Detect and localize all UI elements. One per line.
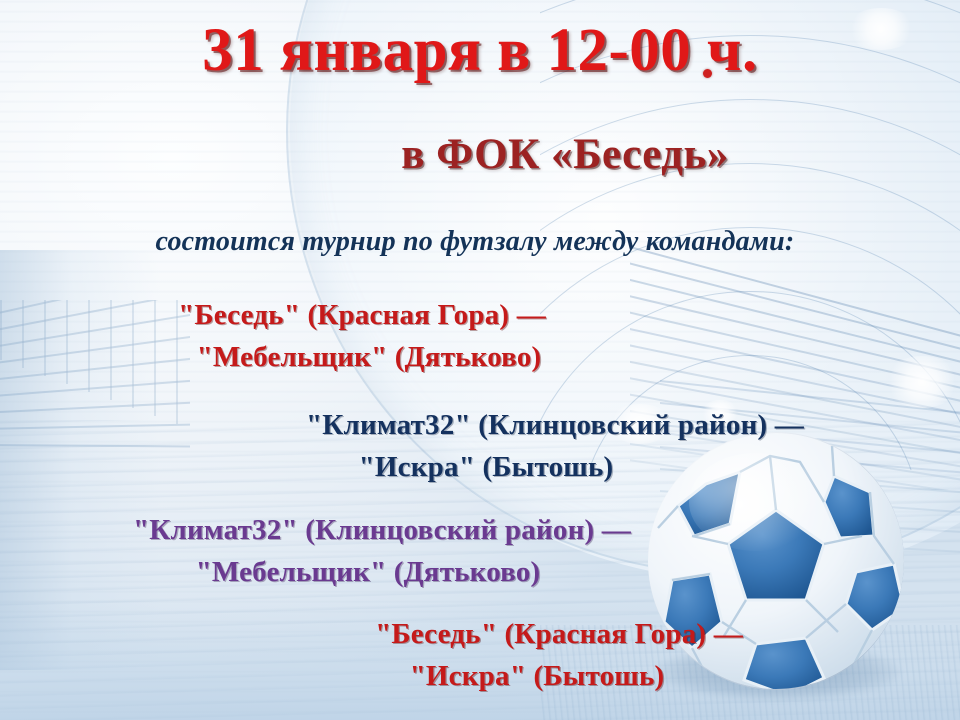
match-home-team: "Климат32" (Клинцовский район) — [150, 404, 960, 446]
match-home-team: "Беседь" (Красная Гора) — [0, 294, 724, 336]
match-row: "Беседь" (Красная Гора) — "Искра" (Бытош… [0, 613, 960, 697]
match-away-team: "Мебельщик" (Дятьково) [0, 551, 764, 593]
match-away-team: "Искра" (Бытошь) [150, 446, 960, 488]
page-title: 31 января в 12-00 ч. [0, 16, 960, 86]
venue-line: в ФОК «Беседь» [0, 130, 960, 179]
match-away-team: "Мебельщик" (Дятьково) [0, 336, 724, 378]
match-away-team: "Искра" (Бытошь) [158, 655, 960, 697]
match-row: "Беседь" (Красная Гора) — "Мебельщик" (Д… [0, 294, 960, 378]
poster-canvas: 31 января в 12-00 ч. в ФОК «Беседь» сост… [0, 0, 960, 720]
match-home-team: "Климат32" (Клинцовский район) — [0, 509, 764, 551]
match-row: "Климат32" (Клинцовский район) — "Искра"… [0, 404, 960, 488]
intro-line: состоится турнир по футзалу между команд… [0, 226, 960, 258]
match-row: "Климат32" (Клинцовский район) — "Мебель… [0, 509, 960, 593]
match-home-team: "Беседь" (Красная Гора) — [158, 613, 960, 655]
